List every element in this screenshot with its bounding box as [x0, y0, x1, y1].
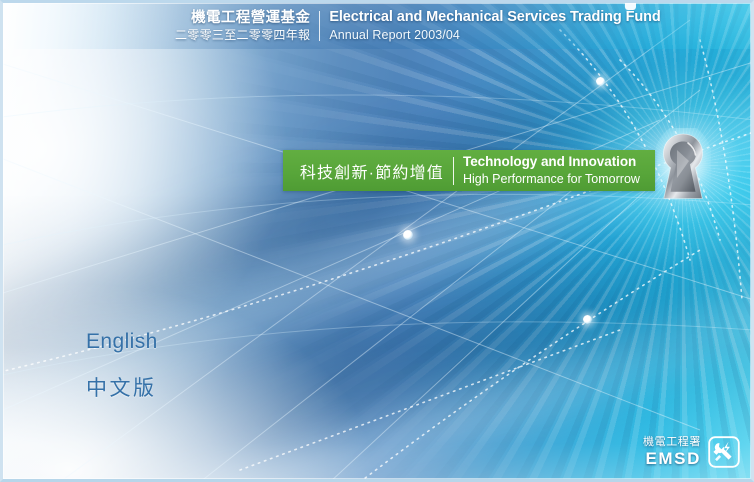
emsd-org-zh: 機電工程署	[643, 436, 701, 448]
glow-node	[583, 315, 592, 324]
header-title-en: Electrical and Mechanical Services Tradi…	[329, 9, 660, 26]
language-link-english[interactable]: English	[86, 330, 158, 354]
theme-title-en: Technology and Innovation	[463, 154, 655, 170]
header-subtitle-en: Annual Report 2003/04	[329, 28, 660, 43]
header-divider	[319, 11, 320, 41]
theme-subtitle-en: High Performance for Tomorrow	[463, 172, 655, 187]
theme-english-group: Technology and Innovation High Performan…	[463, 154, 655, 187]
background-guide-lines	[0, 0, 754, 482]
glow-node	[596, 77, 605, 86]
header-english-title-group: Electrical and Mechanical Services Tradi…	[329, 9, 660, 42]
theme-banner: 科技創新·節約增值 Technology and Innovation High…	[283, 150, 655, 191]
keyhole-emblem-icon	[655, 128, 711, 206]
header-chinese-title-group: 機電工程營運基金 二零零三至二零零四年報	[175, 10, 319, 42]
glow-node	[403, 230, 413, 240]
wrench-lightning-icon	[708, 436, 740, 468]
header-tab-marker	[625, 3, 636, 10]
theme-banner-divider	[453, 157, 454, 185]
theme-text-zh: 科技創新·節約增值	[300, 159, 453, 183]
emsd-logo[interactable]: 機電工程署 EMSD	[643, 436, 740, 468]
header-subtitle-zh: 二零零三至二零零四年報	[175, 28, 310, 42]
emsd-logo-text: 機電工程署 EMSD	[643, 436, 701, 467]
page-header: 機電工程營運基金 二零零三至二零零四年報 Electrical and Mech…	[3, 3, 751, 49]
language-nav[interactable]: English 中文版	[86, 330, 158, 402]
emsd-org-en: EMSD	[643, 449, 701, 468]
language-link-chinese[interactable]: 中文版	[86, 372, 158, 402]
header-title-zh: 機電工程營運基金	[175, 10, 310, 27]
report-cover-page: 機電工程營運基金 二零零三至二零零四年報 Electrical and Mech…	[0, 0, 754, 482]
